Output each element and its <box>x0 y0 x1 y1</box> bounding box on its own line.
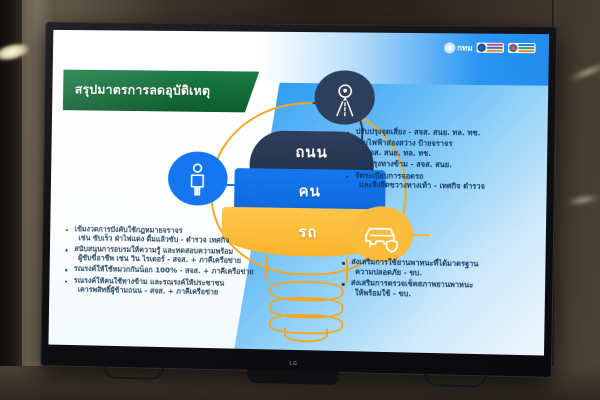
partner-logo-icon <box>509 44 517 52</box>
bullet-main: เพิ่มไฟฟ้าส่องสว่าง ป้ายจราจร <box>356 138 453 148</box>
list-item: รณรงค์ให้คนใช้ทางข้าม และรณรงค์ให้ประชาช… <box>65 275 286 298</box>
lightbulb-tip <box>284 328 327 343</box>
partner-logo-bars <box>518 44 534 52</box>
tv-foot-left <box>103 366 164 380</box>
bullet-main: ปรับปรุงทางข้าม - สจส. สนย. <box>355 159 452 169</box>
television: LG สรุปมาตรการลดอุบัติเหตุ กทม <box>40 22 557 378</box>
bullet-sub: ให้พร้อมใช้ - ขบ. <box>351 288 533 301</box>
list-item: ส่งเสริมการตรวจเช็คสภาพยานพาหนะ ให้พร้อม… <box>342 278 533 301</box>
tv-brand-logo: LG <box>289 361 297 367</box>
person-icon <box>168 151 228 206</box>
car-bullets: ส่งเสริมการใช้ยานพาหนะที่ได้มาตรฐาน ความ… <box>342 257 533 301</box>
road-bullets: ปรับปรุงจุดเสี่ยง - สจส. สนย. ทล. ทช. เพ… <box>346 126 538 192</box>
org-name: กทม <box>457 41 473 54</box>
room-scene: LG สรุปมาตรการลดอุบัติเหตุ กทม <box>0 0 600 400</box>
tv-stand <box>247 370 339 385</box>
bullet-main: รณรงค์ให้ใช้หมวกกันน็อก 100% - สจส. + ภา… <box>74 264 254 276</box>
band-road-label: ถนน <box>295 140 328 164</box>
car-shield-icon <box>350 206 413 263</box>
bullet-sub: และสิ่งยึดขวางทางเท้า - เทศกิจ ตำรวจ <box>355 180 537 192</box>
tv-screen: สรุปมาตรการลดอุบัติเหตุ กทม <box>48 30 549 356</box>
people-bullets: เข้มงวดการบังคับใช้กฎหมายจราจร เช่น ขับเ… <box>65 224 287 298</box>
car-measures-list: ส่งเสริมการใช้ยานพาหนะที่ได้มาตรฐาน ความ… <box>342 257 533 303</box>
partner-logo-bars <box>487 44 503 52</box>
list-item: ปรับปรุงจุดเสี่ยง - สจส. สนย. ทล. ทช. <box>347 126 538 138</box>
bangkok-org-logo: กทม <box>444 41 473 54</box>
bullet-main: ปรับปรุงจุดเสี่ยง - สจส. สนย. ทล. ทช. <box>356 127 481 138</box>
list-item: ส่งเสริมการใช้ยานพาหนะที่ได้มาตรฐาน ความ… <box>342 257 533 280</box>
city-seal-icon <box>444 42 455 53</box>
people-measures-list: เข้มงวดการบังคับใช้กฎหมายจราจร เช่น ขับเ… <box>65 224 287 300</box>
road-measures-list: ปรับปรุงจุดเสี่ยง - สจส. สนย. ทล. ทช. เพ… <box>346 126 538 194</box>
bullet-sub: - สจส. สนย. ทล. ทช. <box>355 148 537 160</box>
band-people-label: คน <box>298 179 321 203</box>
tv-foot-right <box>424 373 487 388</box>
partner-logo-icon <box>478 44 486 52</box>
bullet-sub: เคารพสิทธิ์ผู้ข้ามถนน - สจส. + ภาคีเครือ… <box>74 285 286 298</box>
organization-logos: กทม <box>444 41 536 55</box>
list-item: จัดระเบียบการจอดรถ และสิ่งยึดขวางทางเท้า… <box>346 170 537 192</box>
presentation-slide: สรุปมาตรการลดอุบัติเหตุ กทม <box>48 30 549 356</box>
list-item: เพิ่มไฟฟ้าส่องสว่าง ป้ายจราจร - สจส. สนย… <box>346 138 537 160</box>
band-car-label: รถ <box>298 220 318 244</box>
page-title: สรุปมาตรการลดอุบัติเหตุ <box>63 80 210 102</box>
partner-logo-1 <box>477 43 505 53</box>
list-item: สนับสนุนการอบรมให้ความรู้ และทดสอบความพร… <box>65 244 286 266</box>
list-item: ปรับปรุงทางข้าม - สจส. สนย. <box>346 159 537 171</box>
list-item: เข้มงวดการบังคับใช้กฎหมายจราจร เช่น ขับเ… <box>66 224 287 246</box>
partner-logo-2 <box>508 43 536 53</box>
